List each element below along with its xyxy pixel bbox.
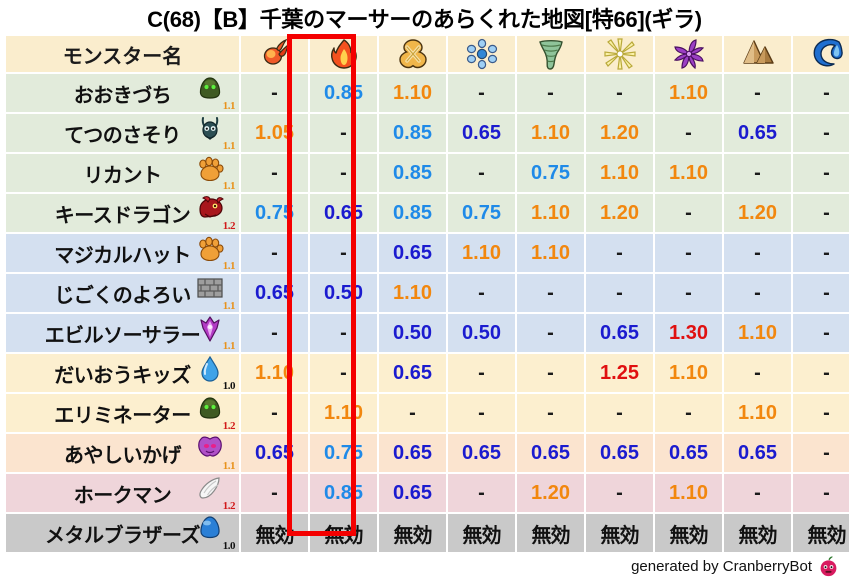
tornado-icon	[534, 38, 568, 70]
damage-cell[interactable]: 0.75	[517, 154, 584, 192]
damage-cell[interactable]: 1.20	[586, 114, 653, 152]
table-header-row: モンスター名	[6, 36, 849, 72]
damage-cell[interactable]: -	[655, 114, 722, 152]
monster-multiplier: 1.1	[223, 300, 235, 312]
element-header-water[interactable]	[793, 36, 849, 72]
monster-badge: 1.0	[195, 356, 235, 390]
monster-badge: 1.1	[195, 156, 235, 190]
damage-cell[interactable]: 1.10	[448, 234, 515, 272]
monster-name-label: エリミネーター	[54, 399, 191, 428]
monster-multiplier: 1.1	[223, 340, 235, 352]
table-row: ホークマン 1.2 -0.850.65-1.20-1.10--	[6, 474, 849, 512]
damage-cell[interactable]: 0.65	[724, 114, 791, 152]
damage-cell[interactable]: 0.75	[241, 194, 308, 232]
damage-cell[interactable]: 0.85	[379, 114, 446, 152]
dragon-icon	[195, 196, 225, 222]
damage-cell[interactable]: -	[793, 474, 849, 512]
monster-multiplier: 1.0	[223, 540, 235, 552]
damage-cell[interactable]: 1.20	[517, 474, 584, 512]
monster-name-header: モンスター名	[6, 36, 239, 72]
damage-cell[interactable]: 無効	[448, 514, 515, 552]
damage-cell[interactable]: -	[655, 194, 722, 232]
starburst-icon	[603, 38, 637, 70]
damage-cell[interactable]: -	[241, 234, 308, 272]
damage-cell[interactable]: -	[655, 274, 722, 312]
table-row: エリミネーター 1.2 -1.10-----1.10-	[6, 394, 849, 432]
monster-multiplier: 1.0	[223, 380, 235, 392]
damage-cell[interactable]: 無効	[586, 514, 653, 552]
paw-icon	[195, 236, 225, 262]
damage-cell[interactable]: -	[586, 74, 653, 112]
damage-cell[interactable]: -	[310, 154, 377, 192]
damage-cell[interactable]: 1.10	[655, 474, 722, 512]
damage-cell[interactable]: 0.85	[310, 74, 377, 112]
damage-cell[interactable]: -	[241, 474, 308, 512]
footer-text: generated by CranberryBot	[631, 558, 812, 575]
damage-cell[interactable]: -	[517, 394, 584, 432]
damage-cell[interactable]: 0.50	[448, 314, 515, 352]
damage-cell[interactable]: 0.85	[379, 194, 446, 232]
damage-cell[interactable]: 無効	[655, 514, 722, 552]
damage-cell[interactable]: -	[793, 274, 849, 312]
damage-cell[interactable]: 0.75	[448, 194, 515, 232]
damage-cell[interactable]: -	[517, 354, 584, 392]
explosion-icon	[396, 38, 430, 70]
damage-cell[interactable]: -	[793, 74, 849, 112]
flame-icon	[327, 38, 361, 70]
table-row: マジカルハット 1.1 --0.651.101.10----	[6, 234, 849, 272]
monster-badge: 1.1	[195, 236, 235, 270]
damage-cell[interactable]: -	[448, 474, 515, 512]
monster-multiplier: 1.1	[223, 260, 235, 272]
table-row: だいおうキッズ 1.0 1.10-0.65--1.251.10--	[6, 354, 849, 392]
damage-cell[interactable]: 0.65	[379, 434, 446, 472]
damage-cell[interactable]: 0.50	[379, 314, 446, 352]
fireball-icon	[258, 38, 292, 70]
table-row: おおきづち 1.1 -0.851.10---1.10--	[6, 74, 849, 112]
monster-name-cell[interactable]: マジカルハット 1.1	[6, 234, 239, 272]
damage-cell[interactable]: 1.10	[724, 394, 791, 432]
damage-matrix-container: モンスター名	[4, 34, 845, 554]
brick-icon	[195, 276, 225, 302]
monster-name-label: あやしいかげ	[64, 439, 181, 468]
damage-cell[interactable]: 0.65	[379, 234, 446, 272]
monster-badge: 1.2	[195, 396, 235, 430]
slime-blue-icon	[195, 516, 225, 542]
monster-name-cell[interactable]: ホークマン 1.2	[6, 474, 239, 512]
damage-cell[interactable]: 1.10	[517, 234, 584, 272]
scorpion-icon	[195, 116, 225, 142]
damage-matrix-table: モンスター名	[4, 34, 849, 554]
monster-badge: 1.1	[195, 436, 235, 470]
damage-cell[interactable]: -	[793, 114, 849, 152]
damage-cell[interactable]: -	[655, 234, 722, 272]
monster-name-cell[interactable]: じごくのよろい 1.1	[6, 274, 239, 312]
damage-cell[interactable]: 1.25	[586, 354, 653, 392]
table-row: エビルソーサラー 1.1 --0.500.50-0.651.301.10-	[6, 314, 849, 352]
damage-cell[interactable]: -	[586, 394, 653, 432]
monster-badge: 1.1	[195, 76, 235, 110]
damage-cell[interactable]: -	[448, 274, 515, 312]
monster-badge: 1.2	[195, 196, 235, 230]
monster-multiplier: 1.1	[223, 100, 235, 112]
monster-name-label: キースドラゴン	[55, 199, 191, 228]
damage-cell[interactable]: 0.75	[310, 434, 377, 472]
table-row: リカント 1.1 --0.85-0.751.101.10--	[6, 154, 849, 192]
monster-badge: 1.0	[195, 516, 235, 550]
monster-name-cell[interactable]: おおきづち 1.1	[6, 74, 239, 112]
monster-name-label: リカント	[84, 159, 162, 188]
damage-cell[interactable]: -	[793, 314, 849, 352]
monster-badge: 1.1	[195, 316, 235, 350]
damage-cell[interactable]: 無効	[517, 514, 584, 552]
damage-cell[interactable]: -	[586, 234, 653, 272]
monster-name-label: ホークマン	[74, 479, 172, 508]
monster-multiplier: 1.1	[223, 180, 235, 192]
damage-cell[interactable]: 1.10	[655, 154, 722, 192]
monster-name-label: だいおうキッズ	[54, 359, 191, 388]
table-row: じごくのよろい 1.1 0.650.501.10------	[6, 274, 849, 312]
damage-cell[interactable]: 0.85	[379, 154, 446, 192]
damage-cell[interactable]: 1.10	[724, 314, 791, 352]
damage-cell[interactable]: 無効	[379, 514, 446, 552]
monster-multiplier: 1.1	[223, 140, 235, 152]
monster-badge: 1.2	[195, 476, 235, 510]
paw-icon	[195, 156, 225, 182]
damage-cell[interactable]: -	[241, 74, 308, 112]
damage-cell[interactable]: 1.10	[241, 354, 308, 392]
damage-cell[interactable]: 無効	[724, 514, 791, 552]
damage-cell[interactable]: 0.65	[241, 274, 308, 312]
footer-attribution: generated by CranberryBot	[631, 556, 839, 577]
damage-cell[interactable]: -	[793, 194, 849, 232]
damage-cell[interactable]: -	[793, 154, 849, 192]
wave-icon	[810, 38, 844, 70]
damage-cell[interactable]: 1.10	[517, 194, 584, 232]
table-row: メタルブラザーズ 1.0 無効無効無効無効無効無効無効無効無効	[6, 514, 849, 552]
damage-cell[interactable]: 0.65	[724, 434, 791, 472]
damage-cell[interactable]: 1.20	[724, 194, 791, 232]
damage-cell[interactable]: -	[379, 394, 446, 432]
damage-cell[interactable]: 1.10	[310, 394, 377, 432]
damage-cell[interactable]: 1.10	[517, 114, 584, 152]
damage-cell[interactable]: -	[724, 74, 791, 112]
damage-cell[interactable]: 1.20	[586, 194, 653, 232]
damage-cell[interactable]: -	[517, 314, 584, 352]
damage-cell[interactable]: -	[310, 314, 377, 352]
table-row: あやしいかげ 1.1 0.650.750.650.650.650.650.650…	[6, 434, 849, 472]
damage-cell[interactable]: 1.10	[586, 154, 653, 192]
monster-name-cell[interactable]: エビルソーサラー 1.1	[6, 314, 239, 352]
damage-cell[interactable]: -	[586, 474, 653, 512]
damage-cell[interactable]: -	[241, 314, 308, 352]
damage-cell[interactable]: -	[724, 234, 791, 272]
monster-multiplier: 1.2	[223, 500, 235, 512]
element-header-ice[interactable]	[448, 36, 515, 72]
damage-cell[interactable]: -	[517, 74, 584, 112]
damage-cell[interactable]: 0.65	[310, 194, 377, 232]
element-header-flame[interactable]	[310, 36, 377, 72]
element-header-dark[interactable]	[655, 36, 722, 72]
table-row: てつのさそり 1.1 1.05-0.850.651.101.20-0.65-	[6, 114, 849, 152]
damage-cell[interactable]: -	[724, 154, 791, 192]
damage-cell[interactable]: -	[241, 394, 308, 432]
monster-badge: 1.1	[195, 276, 235, 310]
slime-dark-icon	[195, 396, 225, 422]
element-header-explosion[interactable]	[379, 36, 446, 72]
damage-cell[interactable]: -	[793, 234, 849, 272]
damage-cell[interactable]: -	[724, 354, 791, 392]
damage-cell[interactable]: 無効	[310, 514, 377, 552]
monster-name-label: てつのさそり	[64, 119, 181, 148]
element-header-fireball[interactable]	[241, 36, 308, 72]
damage-cell[interactable]: 1.10	[379, 274, 446, 312]
damage-cell[interactable]: -	[448, 74, 515, 112]
damage-cell[interactable]: 0.65	[448, 434, 515, 472]
monster-name-label: エビルソーサラー	[45, 319, 201, 348]
pinwheel-icon	[672, 38, 706, 70]
monster-name-label: メタルブラザーズ	[45, 519, 200, 548]
damage-cell[interactable]: 0.65	[448, 114, 515, 152]
damage-cell[interactable]: -	[310, 234, 377, 272]
cranberry-icon	[818, 556, 839, 577]
element-header-light[interactable]	[586, 36, 653, 72]
damage-cell[interactable]: -	[793, 354, 849, 392]
damage-cell[interactable]: 無効	[793, 514, 849, 552]
damage-cell[interactable]: -	[793, 394, 849, 432]
damage-cell[interactable]: -	[724, 474, 791, 512]
damage-cell[interactable]: 1.10	[655, 74, 722, 112]
monster-name-cell[interactable]: メタルブラザーズ 1.0	[6, 514, 239, 552]
monster-name-label: おおきづち	[74, 79, 172, 108]
damage-cell[interactable]: -	[655, 394, 722, 432]
damage-cell[interactable]: 1.10	[655, 354, 722, 392]
monster-multiplier: 1.2	[223, 420, 235, 432]
monster-multiplier: 1.1	[223, 460, 235, 472]
damage-cell[interactable]: 0.65	[586, 434, 653, 472]
damage-cell[interactable]: 1.30	[655, 314, 722, 352]
damage-cell[interactable]: 0.50	[310, 274, 377, 312]
monster-name-cell[interactable]: エリミネーター 1.2	[6, 394, 239, 432]
ghost-icon	[195, 436, 225, 462]
page-title: C(68)【B】千葉のマーサーのあらくれた地図[特66](ギラ)	[0, 2, 849, 34]
damage-cell[interactable]: -	[793, 434, 849, 472]
snowflake-icon	[465, 38, 499, 70]
damage-cell[interactable]: 1.10	[379, 74, 446, 112]
monster-name-cell[interactable]: あやしいかげ 1.1	[6, 434, 239, 472]
damage-cell[interactable]: 0.65	[655, 434, 722, 472]
damage-cell[interactable]: -	[517, 274, 584, 312]
damage-cell[interactable]: 0.65	[379, 354, 446, 392]
damage-cell[interactable]: -	[310, 114, 377, 152]
damage-cell[interactable]: -	[586, 274, 653, 312]
damage-cell[interactable]: 0.65	[586, 314, 653, 352]
damage-cell[interactable]: -	[241, 154, 308, 192]
monster-name-label: マジカルハット	[54, 239, 191, 268]
damage-cell[interactable]: 無効	[241, 514, 308, 552]
monster-badge: 1.1	[195, 116, 235, 150]
monster-name-cell[interactable]: キースドラゴン 1.2	[6, 194, 239, 232]
damage-cell[interactable]: 1.05	[241, 114, 308, 152]
mountain-icon	[741, 38, 775, 70]
element-header-wind[interactable]	[517, 36, 584, 72]
wing-icon	[195, 476, 225, 502]
monster-name-cell[interactable]: だいおうキッズ 1.0	[6, 354, 239, 392]
damage-cell[interactable]: -	[448, 394, 515, 432]
slime-dark-icon	[195, 76, 225, 102]
damage-cell[interactable]: -	[310, 354, 377, 392]
damage-cell[interactable]: 0.65	[241, 434, 308, 472]
damage-cell[interactable]: -	[448, 154, 515, 192]
monster-name-cell[interactable]: てつのさそり 1.1	[6, 114, 239, 152]
element-header-earth[interactable]	[724, 36, 791, 72]
trident-icon	[195, 316, 225, 342]
damage-cell[interactable]: 0.85	[310, 474, 377, 512]
damage-cell[interactable]: 0.65	[517, 434, 584, 472]
droplet-icon	[195, 356, 225, 382]
monster-name-cell[interactable]: リカント 1.1	[6, 154, 239, 192]
damage-cell[interactable]: -	[448, 354, 515, 392]
monster-name-label: じごくのよろい	[54, 279, 191, 308]
table-row: キースドラゴン 1.2 0.750.650.850.751.101.20-1.2…	[6, 194, 849, 232]
damage-cell[interactable]: 0.65	[379, 474, 446, 512]
monster-multiplier: 1.2	[223, 220, 235, 232]
damage-cell[interactable]: -	[724, 274, 791, 312]
